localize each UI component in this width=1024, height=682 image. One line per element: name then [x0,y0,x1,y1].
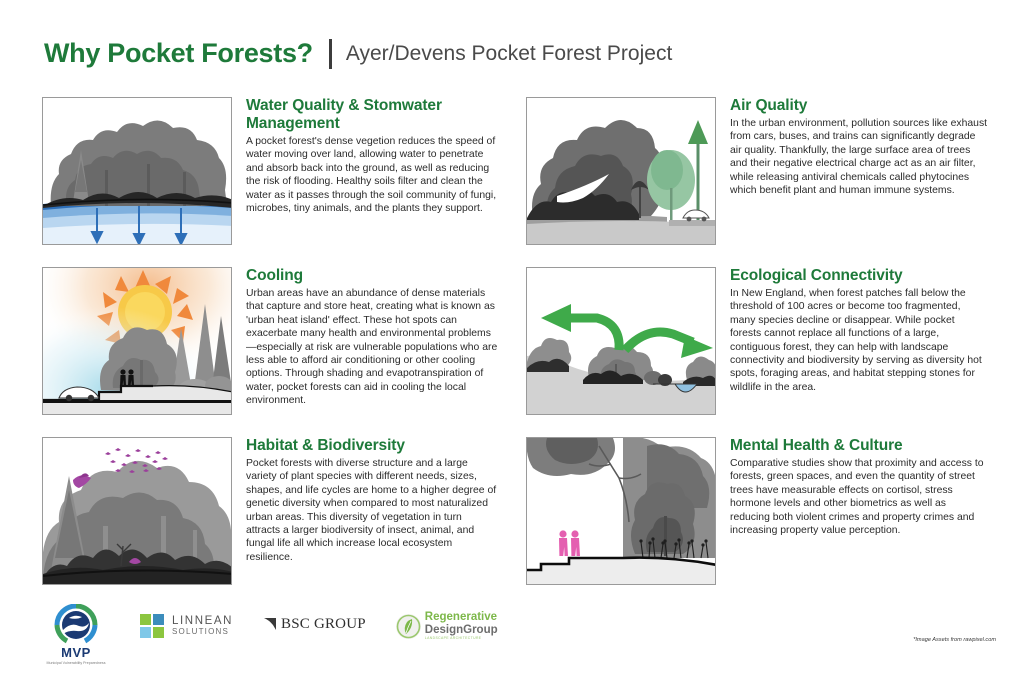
panel-title: Habitat & Biodiversity [246,437,498,455]
panel-water-quality: Water Quality & Stomwater Management A p… [42,97,518,245]
page-title: Why Pocket Forests? [44,38,313,69]
linnean-logo-line1: LINNEAN [172,615,233,627]
panel-body: Comparative studies show that proximity … [730,457,988,537]
panel-row: Water Quality & Stomwater Management A p… [42,97,1002,245]
linnean-logo-line2: SOLUTIONS [172,627,233,637]
title-divider [329,39,332,69]
panel-text: Habitat & Biodiversity Pocket forests wi… [246,437,498,585]
panel-body: Urban areas have an abundance of dense m… [246,287,498,408]
panel-text: Water Quality & Stomwater Management A p… [246,97,498,245]
figure-street-tree-air-filter-diagram [526,97,716,245]
panel-row: Habitat & Biodiversity Pocket forests wi… [42,437,1002,585]
panel-title: Mental Health & Culture [730,437,988,455]
infographic-page: Why Pocket Forests? Ayer/Devens Pocket F… [0,0,1024,682]
figure-people-in-park-diagram [526,437,716,585]
panel-title: Water Quality & Stomwater Management [246,97,498,133]
rdg-logo-line3: LANDSCAPE ARCHITECTURE [425,636,498,641]
panel-body: Pocket forests with diverse structure an… [246,457,498,564]
figure-forest-birds-diagram [42,437,232,585]
panel-text: Mental Health & Culture Comparative stud… [730,437,988,585]
mvp-logo: MVP Municipal Vulnerability Preparedness [40,604,112,666]
mvp-mark-icon [53,604,99,644]
panel-text: Ecological Connectivity In New England, … [730,267,988,415]
panel-air-quality: Air Quality In the urban environment, po… [526,97,1002,245]
figure-forest-infiltration-diagram [42,97,232,245]
panel-title: Ecological Connectivity [730,267,988,285]
panel-text: Cooling Urban areas have an abundance of… [246,267,498,415]
page-subtitle: Ayer/Devens Pocket Forest Project [346,42,672,66]
bsc-group-logo-text: BSC GROUP [281,616,366,633]
panel-row: Cooling Urban areas have an abundance of… [42,267,1002,415]
panel-ecological-connectivity: Ecological Connectivity In New England, … [526,267,1002,415]
figure-urban-heat-island-diagram [42,267,232,415]
bsc-arrow-icon [261,616,278,633]
panel-cooling: Cooling Urban areas have an abundance of… [42,267,518,415]
figure-wildlife-corridor-diagram [526,267,716,415]
panel-title: Cooling [246,267,498,285]
rdg-leaf-icon [396,614,421,639]
linnean-solutions-logo: LINNEAN SOLUTIONS [140,614,233,638]
panel-habitat-biodiversity: Habitat & Biodiversity Pocket forests wi… [42,437,518,585]
rdg-logo-line1: Regenerative [425,612,498,624]
footer-logos: MVP Municipal Vulnerability Preparedness… [40,604,498,666]
mvp-logo-subtitle: Municipal Vulnerability Preparedness [41,661,111,666]
page-header: Why Pocket Forests? Ayer/Devens Pocket F… [44,38,672,69]
mvp-logo-text: MVP [61,645,91,660]
panel-body: In the urban environment, pollution sour… [730,117,988,197]
bsc-group-logo: BSC GROUP [261,616,366,633]
regenerative-design-group-logo: Regenerative DesignGroup LANDSCAPE ARCHI… [396,612,498,641]
panel-mental-health-culture: Mental Health & Culture Comparative stud… [526,437,1002,585]
panel-grid: Water Quality & Stomwater Management A p… [42,97,1002,607]
image-credit: *Image Assets from rawpixel.com [913,637,996,643]
panel-title: Air Quality [730,97,988,115]
linnean-squares-icon [140,614,164,638]
rdg-logo-line2: DesignGroup [425,624,498,636]
panel-text: Air Quality In the urban environment, po… [730,97,988,245]
panel-body: A pocket forest's dense vegetion reduces… [246,135,498,215]
panel-body: In New England, when forest patches fall… [730,287,988,394]
